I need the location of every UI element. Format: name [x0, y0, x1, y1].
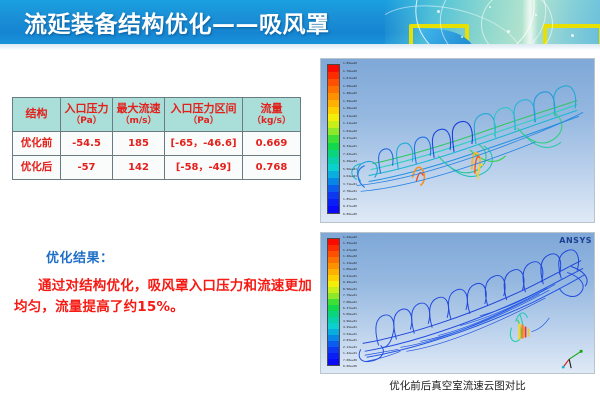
streamline-plot-before — [321, 59, 594, 222]
swoosh-curve-4 — [481, 0, 553, 44]
colorbar-tick-label: 7.08e+01 — [343, 301, 357, 304]
colorbar-tick-label: 1.06e+02 — [343, 268, 357, 271]
header-bottom-edge — [0, 44, 600, 50]
axes-triad-icon — [562, 350, 583, 369]
colorbar-tick-label: 7.42e+01 — [343, 153, 357, 156]
header-shine — [522, 0, 538, 44]
colorbar-tick-label: 9.91e+01 — [343, 275, 357, 278]
optimization-comparison-table: 结构 入口压力 （Pa） 最大流速 （m/s） 入口压力区间 （Pa） 流量 （… — [12, 97, 301, 180]
colorbar-tick-label: 2.13e+01 — [343, 346, 357, 349]
deco-dot — [507, 30, 510, 33]
colorbar-tick-label: 1.76e+02 — [343, 70, 357, 73]
colorbar-tick-label: 1.85e+01 — [343, 198, 357, 201]
column-header-line1: 最大流速 — [114, 103, 163, 116]
slide-canvas: 流延装备结构优化——吸风罩 结构 入口压力 （Pa） 最大流速 （m/s） — [0, 0, 600, 410]
deco-dot — [571, 34, 574, 37]
colorbar-tick-label: 8.50e+01 — [343, 288, 357, 291]
table-row: 优化前 -54.5 185 [-65，-46.6] 0.669 — [13, 132, 301, 156]
colorbar-tick-label: 1.13e+02 — [343, 262, 357, 265]
column-header-line2: （Pa） — [166, 116, 241, 127]
colorbar-tick-label: 7.79e+01 — [343, 294, 357, 297]
column-header-pressure-range: 入口压力区间 （Pa） — [165, 98, 243, 132]
cell-inlet-pressure: -54.5 — [61, 132, 113, 156]
column-header-inlet-pressure: 入口压力 （Pa） — [61, 98, 113, 132]
column-header-line1: 结构 — [14, 108, 59, 121]
deco-dot — [437, 10, 440, 13]
colorbar-tick-label: 0.00e+00 — [343, 213, 357, 216]
slide-title: 流延装备结构优化——吸风罩 — [24, 5, 330, 39]
colorbar-tick-label: 1.85e+02 — [343, 62, 357, 65]
deco-dot — [489, 6, 491, 8]
colorbar-tick-label: 3.71e+01 — [343, 183, 357, 186]
cell-max-velocity: 185 — [113, 132, 165, 156]
colorbar-tick-label: 1.20e+02 — [343, 255, 357, 258]
colorbar-tick-label: 5.66e+01 — [343, 313, 357, 316]
colorbar-tick-label: 9.20e+01 — [343, 281, 357, 284]
figure-caption: 优化前后真空室流速云图对比 — [320, 378, 595, 393]
column-header-max-velocity: 最大流速 （m/s） — [113, 98, 165, 132]
colorbar-tick-label: 5.56e+01 — [343, 168, 357, 171]
colorbar-tick-label: 1.48e+02 — [343, 92, 357, 95]
cell-max-velocity: 142 — [113, 156, 165, 180]
colorbar-tick-label: 6.37e+01 — [343, 307, 357, 310]
colorbar-labels-before: 1.85e+021.76e+021.67e+021.58e+021.48e+02… — [343, 62, 357, 216]
colorbar-tick-label: 1.42e+01 — [343, 352, 357, 355]
colorbar-tick-label: 3.54e+01 — [343, 333, 357, 336]
colorbar-tick-label: 1.67e+02 — [343, 77, 357, 80]
cell-pressure-range: [-58，-49] — [165, 156, 243, 180]
colorbar-tick-label: 1.11e+02 — [343, 122, 357, 125]
column-header-line1: 流量 — [244, 103, 299, 116]
colorbar-tick-label: 8.34e+01 — [343, 145, 357, 148]
colorbar-tick-label: 1.39e+02 — [343, 100, 357, 103]
colorbar-tick-label: 1.30e+02 — [343, 107, 357, 110]
column-header-structure: 结构 — [13, 98, 61, 132]
colorbar-tick-label: 2.83e+01 — [343, 339, 357, 342]
colorbar-tick-label: 6.49e+01 — [343, 160, 357, 163]
result-label: 优化结果： — [46, 247, 114, 266]
deco-dot — [461, 36, 463, 38]
colorbar-tick-label: 0.00e+00 — [343, 365, 357, 368]
streamline-plot-after — [321, 233, 594, 373]
colorbar-tick-label: 1.21e+02 — [343, 115, 357, 118]
result-body-text: 通过对结构优化，吸风罩入口压力和流速更加均匀，流量提高了约15%。 — [14, 276, 314, 318]
ansys-logo: ANSYS — [559, 236, 592, 245]
colorbar-after — [327, 238, 340, 366]
cell-flow-rate: 0.669 — [243, 132, 301, 156]
cfd-figure-after-optimization: 1.42e+021.35e+021.27e+021.20e+021.13e+02… — [320, 232, 595, 374]
table-row: 优化后 -57 142 [-58，-49] 0.768 — [13, 156, 301, 180]
colorbar-tick-label: 1.02e+02 — [343, 130, 357, 133]
column-header-flow-rate: 流量 （kg/s） — [243, 98, 301, 132]
colorbar-tick-label: 4.96e+01 — [343, 320, 357, 323]
column-header-line2: （kg/s） — [244, 116, 299, 127]
colorbar-tick-label: 9.27e+01 — [343, 137, 357, 140]
colorbar-tick-label: 9.27e+00 — [343, 205, 357, 208]
header-decoration — [385, 0, 600, 44]
colorbar-labels-after: 1.42e+021.35e+021.27e+021.20e+021.13e+02… — [343, 236, 357, 368]
cell-flow-rate: 0.768 — [243, 156, 301, 180]
cell-inlet-pressure: -57 — [61, 156, 113, 180]
colorbar-before — [327, 64, 340, 214]
slide-header: 流延装备结构优化——吸风罩 — [0, 0, 600, 44]
table-header-row: 结构 入口压力 （Pa） 最大流速 （m/s） 入口压力区间 （Pa） 流量 （… — [13, 98, 301, 132]
cell-structure: 优化前 — [13, 132, 61, 156]
cell-structure: 优化后 — [13, 156, 61, 180]
column-header-line2: （m/s） — [114, 116, 163, 127]
column-header-line1: 入口压力区间 — [166, 103, 241, 116]
colorbar-tick-label: 4.25e+01 — [343, 326, 357, 329]
colorbar-tick-label: 1.35e+02 — [343, 242, 357, 245]
column-header-line2: （Pa） — [62, 116, 111, 127]
colorbar-tick-label: 7.08e+00 — [343, 359, 357, 362]
column-header-line1: 入口压力 — [62, 103, 111, 116]
cell-pressure-range: [-65，-46.6] — [165, 132, 243, 156]
cfd-figure-before-optimization: 1.85e+021.76e+021.67e+021.58e+021.48e+02… — [320, 58, 595, 223]
colorbar-tick-label: 4.64e+01 — [343, 175, 357, 178]
colorbar-tick-label: 2.78e+01 — [343, 190, 357, 193]
colorbar-tick-label: 1.42e+02 — [343, 236, 357, 239]
colorbar-tick-label: 1.27e+02 — [343, 249, 357, 252]
colorbar-tick-label: 1.58e+02 — [343, 85, 357, 88]
